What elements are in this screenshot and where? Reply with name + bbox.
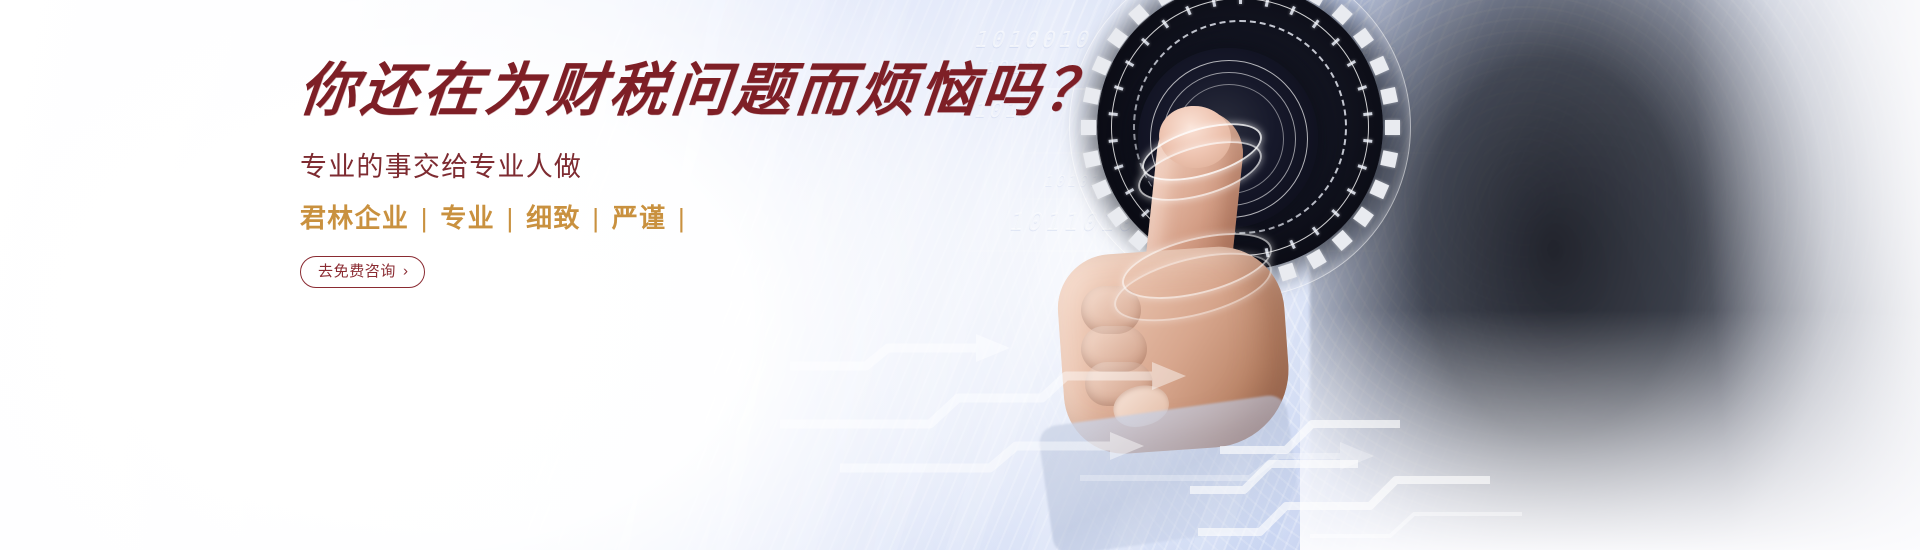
- banner-headline: 你还在为财税问题而烦恼吗？: [296, 60, 1022, 121]
- tagline-item-1: 专业: [440, 203, 495, 233]
- banner-subline: 专业的事交给专业人做: [300, 151, 1016, 183]
- tagline-brand: 君林企业: [300, 203, 409, 233]
- tagline-separator: |: [418, 203, 432, 233]
- tagline-separator: |: [503, 203, 517, 233]
- banner-tagline: 君林企业 | 专业 | 细致 | 严谨 |: [300, 203, 1016, 234]
- free-consultation-button[interactable]: 去免费咨询 ›: [300, 256, 425, 288]
- tagline-item-2: 细致: [526, 203, 581, 233]
- tagline-separator: |: [675, 203, 689, 233]
- chevron-right-icon: ›: [403, 264, 409, 279]
- cta-label: 去免费咨询: [318, 264, 396, 279]
- tagline-separator: |: [589, 203, 603, 233]
- circuit-trace-decor: [1190, 350, 1530, 540]
- banner-text-block: 你还在为财税问题而烦恼吗？ 专业的事交给专业人做 君林企业 | 专业 | 细致 …: [296, 60, 1016, 288]
- hero-banner: 1010010 1010 1010 1010010 10101010010100…: [0, 0, 1920, 550]
- tagline-item-3: 严谨: [612, 203, 667, 233]
